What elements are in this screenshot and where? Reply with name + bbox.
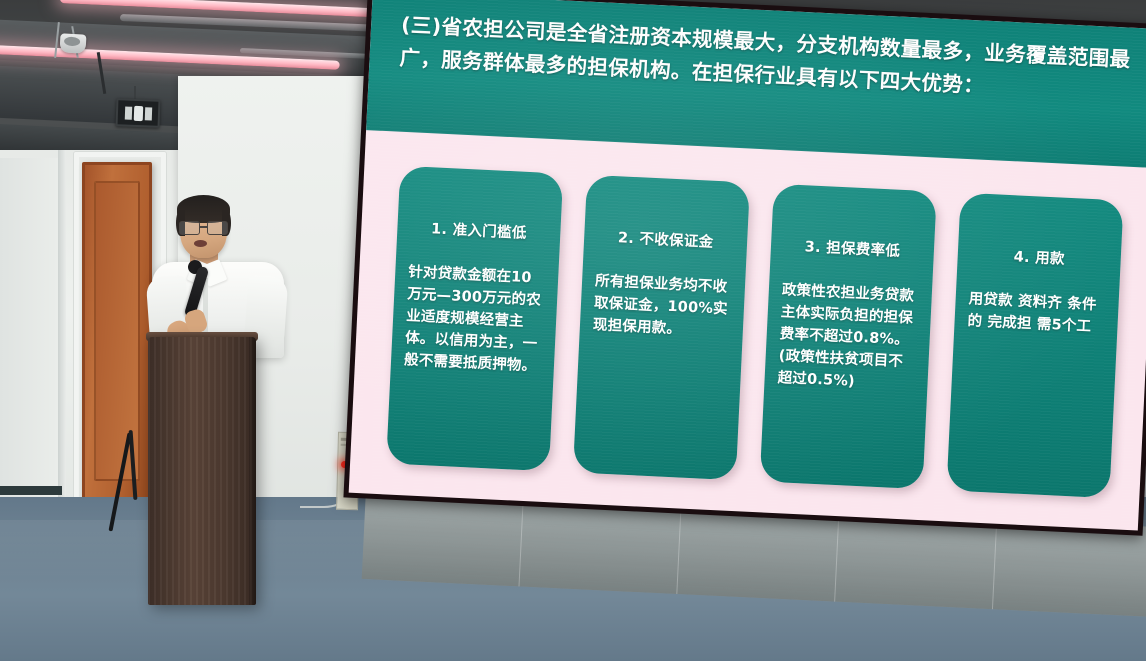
slide-card-1: 1. 准入门槛低 针对贷款金额在10万元—300万元的农业适度规模经营主体。以信… <box>386 166 563 471</box>
door-panel <box>94 181 140 481</box>
slide-header-text: (三)省农担公司是全省注册资本规模最大，分支机构数量最多，业务覆盖范围最广，服务… <box>399 9 1139 110</box>
podium-edge <box>249 337 256 605</box>
exit-sign-icon <box>116 98 161 128</box>
slide-card-4: 4. 用款 用贷款 资料齐 条件的 完成担 需5个工 <box>946 193 1123 498</box>
card-title: 4. 用款 <box>970 243 1108 271</box>
card-title: 3. 担保费率低 <box>784 234 922 262</box>
presentation-photo-scene: (三)省农担公司是全省注册资本规模最大，分支机构数量最多，业务覆盖范围最广，服务… <box>0 0 1146 661</box>
card-body: 针对贷款金额在10万元—300万元的农业适度规模经营主体。以信用为主，一般不需要… <box>404 261 546 378</box>
slide-canvas: (三)省农担公司是全省注册资本规模最大，分支机构数量最多，业务覆盖范围最广，服务… <box>349 0 1146 531</box>
running-figure-icon <box>133 105 143 120</box>
presenter <box>146 190 296 350</box>
baseboard <box>0 486 62 495</box>
card-title: 2. 不收保证金 <box>597 225 735 253</box>
glasses-icon <box>179 221 228 233</box>
card-body: 所有担保业务均不收取保证金，100%实现担保用款。 <box>592 270 732 343</box>
mouth <box>194 240 207 247</box>
glasses-lens <box>179 221 200 235</box>
ceiling-light-fixture <box>60 0 390 18</box>
card-body: 用贷款 资料齐 条件的 完成担 需5个工 <box>967 288 1106 339</box>
exit-sign-block <box>144 107 151 120</box>
slide-card-row: 1. 准入门槛低 针对贷款金额在10万元—300万元的农业适度规模经营主体。以信… <box>349 130 1146 530</box>
slide-card-3: 3. 担保费率低 政策性农担业务贷款主体实际负担的担保费率不超过0.8%。(政策… <box>760 184 937 489</box>
wooden-podium <box>148 337 256 605</box>
screen-bezel: (三)省农担公司是全省注册资本规模最大，分支机构数量最多，业务覆盖范围最广，服务… <box>343 0 1146 536</box>
card-title: 1. 准入门槛低 <box>410 216 548 244</box>
exit-sign-block <box>124 106 131 119</box>
wooden-door[interactable] <box>82 162 152 500</box>
speaker-lens <box>64 37 80 47</box>
glasses-lens <box>207 221 228 235</box>
led-display-screen[interactable]: (三)省农担公司是全省注册资本规模最大，分支机构数量最多，业务覆盖范围最广，服务… <box>343 0 1146 544</box>
ceiling-speaker-icon <box>60 33 87 53</box>
slide-card-2: 2. 不收保证金 所有担保业务均不收取保证金，100%实现担保用款。 <box>573 175 750 480</box>
wood-grain <box>148 337 256 605</box>
card-body: 政策性农担业务贷款主体实际负担的担保费率不超过0.8%。(政策性扶贫项目不超过0… <box>777 279 919 396</box>
